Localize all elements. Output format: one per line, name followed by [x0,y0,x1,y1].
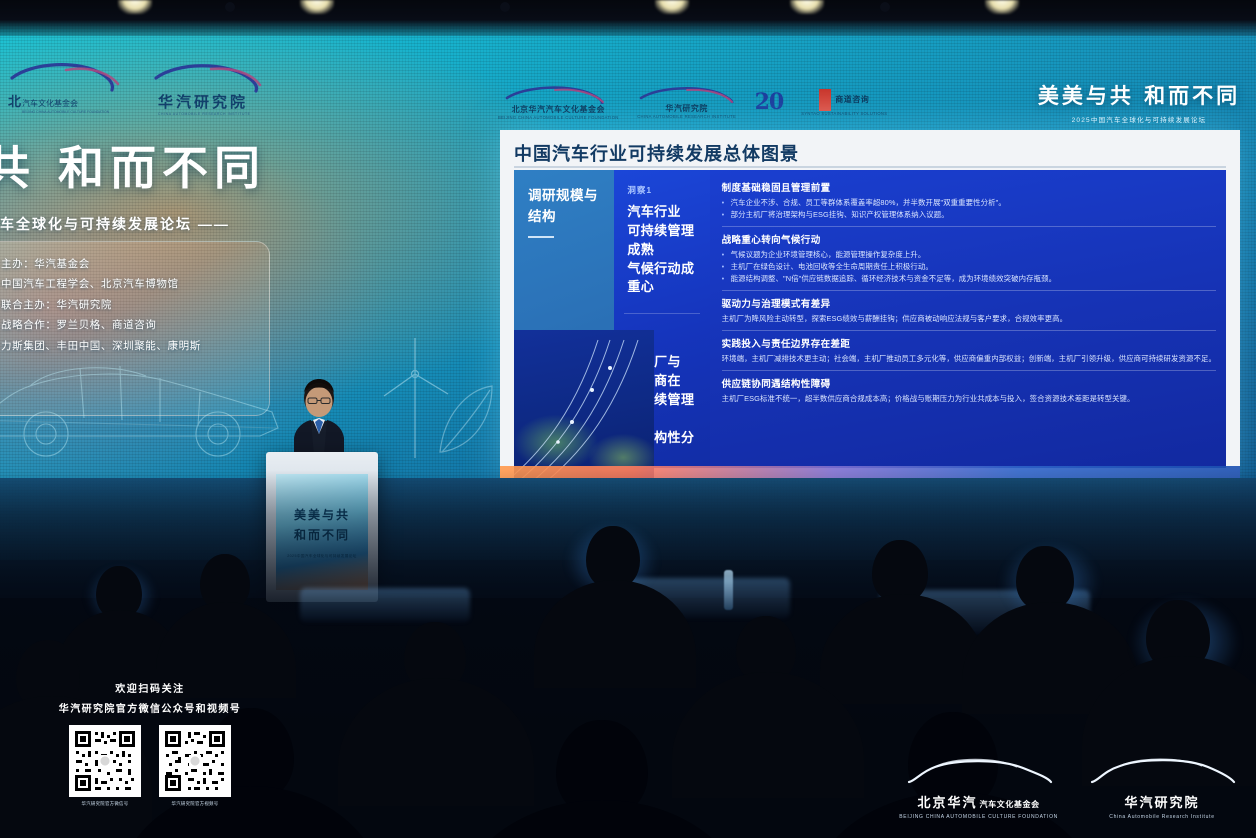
ceiling-spotlight [118,0,152,14]
detail-section-1: 制度基础稳固且管理前置 汽车企业不涉、合规、员工等群体系覆盖率超80%，并半数开… [722,180,1216,221]
brand-logo-foundation: 北京华汽汽车文化基金会 BEIJING CHINA AUTOMOBILE CUL… [498,84,619,120]
slide-column-details: 制度基础稳固且管理前置 汽车企业不涉、合规、员工等群体系覆盖率超80%，并半数开… [710,170,1226,468]
brand-logo-row: 北京华汽汽车文化基金会 BEIJING CHINA AUTOMOBILE CUL… [498,84,887,120]
logo-name-main: 华汽研究院 [1124,792,1199,811]
detail-section-5: 供应链协同遇结构性障碍 主机厂ESG标准不统一，超半数供应商合规成本高；价格战与… [722,376,1216,405]
svg-text:CHINA AUTOMOBILE RESEARCH INST: CHINA AUTOMOBILE RESEARCH INSTITUTE [158,112,251,116]
slide-title-rule [514,166,1226,168]
qr-code-icon[interactable] [69,725,141,797]
logo-name-main: 北京华汽 [918,792,978,811]
presentation-slide: 中国汽车行业可持续发展总体图景 调研规模与结构 本次调研回收45份有效问卷，较2… [500,130,1240,478]
survey-heading: 调研规模与结构 [528,186,602,228]
svg-text:华汽研究院: 华汽研究院 [158,93,248,111]
brand-logo-label: 商道咨询 [835,94,869,105]
detail-section-4: 实践投入与责任边界存在差距 环境端，主机厂减排技术更主动；社会端，主机厂推动员工… [722,336,1216,365]
brand-logo-en: CHINA AUTOMOBILE RESEARCH INSTITUTE [637,114,736,119]
ceiling-fixture [500,2,510,12]
qr-code-icon[interactable] [159,725,231,797]
qr-caption: 华汽研究院官方微信号 [82,801,129,807]
ceiling-spotlight [300,0,334,14]
audience-head [586,526,640,588]
wall-left-logos: 北 汽车文化基金会 BEIJING CHINA AUTOMOBILE CULTU… [6,58,296,118]
qr-code-row: 华汽研究院官方微信号 [38,725,262,807]
car-outline-icon [1088,756,1236,791]
detail-bullet: 汽车企业不涉、合规、员工等群体系覆盖率超80%，并半数开展"双重重要性分析"。 [722,197,1216,209]
qr-item-wechat: 华汽研究院官方微信号 [69,725,141,807]
bottom-right-logo-row: 北京华汽 汽车文化基金会 BEIJING CHINA AUTOMOBILE CU… [899,756,1236,820]
car-outline-icon [905,756,1053,791]
svg-text:北: 北 [8,95,21,110]
logo-name-en: China Automobile Research Institute [1109,814,1214,820]
logo-institute: 华汽研究院 China Automobile Research Institut… [1088,756,1236,820]
detail-heading: 战略重心转向气候行动 [722,232,1216,246]
wall-right-title-block: 美美与共 和而不同 2025中国汽车全球化与可持续发展论坛 [1034,80,1244,124]
detail-heading: 实践投入与责任边界存在差距 [722,336,1216,350]
wall-left-headline: 共 和而不同 [0,132,314,198]
detail-bullet: 气候议题为企业环境管理核心，能源管理操作复杂度上升。 [722,249,1216,261]
ceiling-spotlight [655,0,689,14]
brand-logo-en: SYNTAO SUSTAINABILITY SOLUTIONS [801,111,887,116]
brand-logo-anniversary: 20 [755,89,784,115]
detail-bullet: 主机厂为降风险主动转型，探索ESG绩效与薪酬挂钩；供应商被动响应法规与客户要求，… [722,313,1216,325]
insight-title: 汽车行业 可持续管理成熟 气候行动成重心 [627,203,699,297]
detail-bullet: 能源结构调整、"N倍"供应链数据追踪、循环经济技术与资金不足等，成为环境绩效突破… [722,273,1216,285]
table-surface [300,588,470,622]
detail-heading: 驱动力与治理模式有差异 [722,296,1216,310]
detail-divider [722,370,1216,371]
qr-account-line: 华汽研究院官方微信公众号和视频号 [38,700,262,715]
ceiling-band [0,0,1256,36]
qr-invite-line: 欢迎扫码关注 [38,680,262,695]
forum-name: 2025中国汽车全球化与可持续发展论坛 [1034,114,1244,124]
svg-text:BEIJING CHINA AUTOMOBILE CULTU: BEIJING CHINA AUTOMOBILE CULTURE FOUNDAT… [22,110,110,114]
qr-item-video: 华汽研究院官方视频号 [159,725,231,807]
insight-1: 洞察1 汽车行业 可持续管理成熟 气候行动成重心 [614,170,709,307]
syntao-mark-icon [819,89,831,111]
detail-bullet: 环境端，主机厂减排技术更主动；社会端，主机厂推动员工多元化等，供应商偏重内部权益… [722,353,1216,365]
detail-section-3: 驱动力与治理模式有差异 主机厂为降风险主动转型，探索ESG绩效与薪酬挂钩；供应商… [722,296,1216,325]
qr-overlay-panel: 欢迎扫码关注 华汽研究院官方微信公众号和视频号 [38,680,262,807]
slide-title: 中国汽车行业可持续发展总体图景 [514,140,799,166]
forum-slogan: 美美与共 和而不同 [1034,80,1244,110]
qr-caption: 华汽研究院官方视频号 [172,801,219,807]
conference-photo: 北 汽车文化基金会 BEIJING CHINA AUTOMOBILE CULTU… [0,0,1256,838]
detail-bullet: 主机厂ESG标准不统一，超半数供应商合规成本高；价格战与账期压力为行业共成本与投… [722,393,1216,405]
brand-logo-institute: 华汽研究院 CHINA AUTOMOBILE RESEARCH INSTITUT… [637,85,737,119]
detail-heading: 制度基础稳固且管理前置 [722,180,1216,194]
wall-left-subtitle: 车全球化与可持续发展论坛 —— [0,214,300,234]
brand-logo-en: BEIJING CHINA AUTOMOBILE CULTURE FOUNDAT… [498,115,619,120]
logo-foundation: 北京华汽 汽车文化基金会 BEIJING CHINA AUTOMOBILE CU… [899,756,1058,820]
brand-logo-label: 华汽研究院 [665,103,708,114]
aerial-highway-photo [514,330,654,478]
brand-logo-syntao: 商道咨询 SYNTAO SUSTAINABILITY SOLUTIONS [801,89,887,116]
audience-shoulders [338,678,534,806]
ceiling-fixture [225,2,235,12]
wireframe-car-icon [0,300,290,470]
detail-bullet: 主机厂在绿色设计、电池回收等全生命周期责任上积极行动。 [722,261,1216,273]
ceiling-spotlight [790,0,824,14]
logo-name-en: BEIJING CHINA AUTOMOBILE CULTURE FOUNDAT… [899,814,1058,820]
ceiling-spotlight [985,0,1019,14]
detail-section-2: 战略重心转向气候行动 气候议题为企业环境管理核心，能源管理操作复杂度上升。 主机… [722,232,1216,285]
audience-head [872,540,928,602]
credit-line: 中国汽车工程学会、北京汽车博物馆 [1,274,259,294]
detail-divider [722,290,1216,291]
anniversary-number: 20 [755,89,784,115]
detail-divider [722,330,1216,331]
leaf-icon [430,380,500,460]
ceiling-fixture [880,2,890,12]
brand-logo-label: 北京华汽汽车文化基金会 [512,104,606,115]
credit-line: 主办：华汽基金会 [1,254,259,274]
detail-divider [722,226,1216,227]
svg-text:汽车文化基金会: 汽车文化基金会 [22,98,78,108]
detail-bullet: 部分主机厂将治理架构与ESG挂钩、知识产权管理体系纳入议题。 [722,209,1216,221]
logo-name-sub: 汽车文化基金会 [980,799,1040,809]
audience-head [1016,546,1074,610]
detail-heading: 供应链协同遇结构性障碍 [722,376,1216,390]
insight-divider [624,313,699,314]
insight-tag: 洞察1 [627,184,699,196]
water-bottle [724,570,733,610]
survey-underline [528,236,554,238]
